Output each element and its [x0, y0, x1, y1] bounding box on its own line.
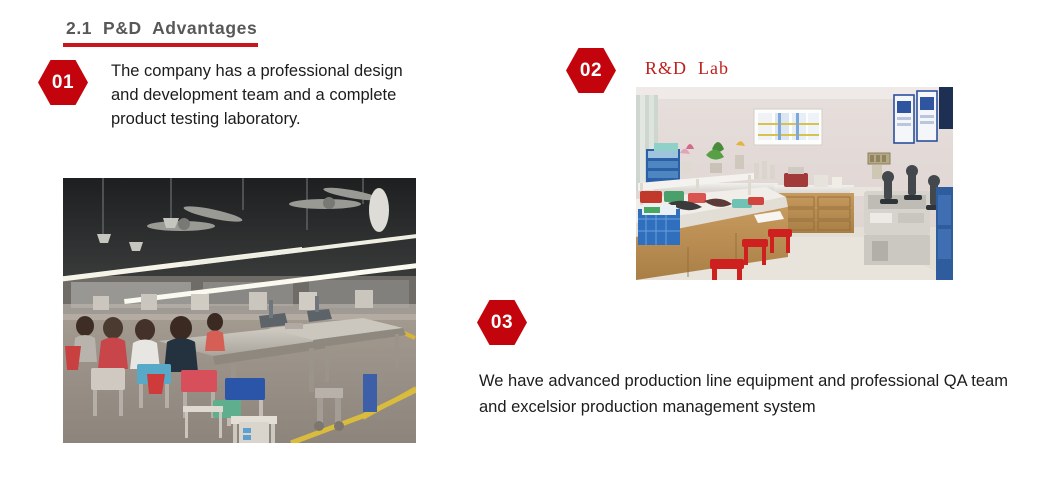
rd-lab-photo-illustration: [636, 87, 953, 280]
factory-production-floor-photo: [63, 178, 416, 443]
page-title: 2.1 P&D Advantages: [66, 18, 257, 39]
block-01-text: The company has a professional design an…: [111, 59, 431, 131]
rd-lab-caption: R&D Lab: [645, 58, 729, 79]
block-03-text: We have advanced production line equipme…: [479, 368, 1024, 420]
slide-root: 2.1 P&D Advantages 01 The company has a …: [0, 0, 1060, 504]
badge-03: 03: [477, 300, 527, 345]
badge-02: 02: [566, 48, 616, 93]
factory-photo-illustration: [63, 178, 416, 443]
title-underline-rule: [63, 43, 258, 47]
badge-01: 01: [38, 60, 88, 105]
rd-lab-photo: [636, 87, 953, 280]
